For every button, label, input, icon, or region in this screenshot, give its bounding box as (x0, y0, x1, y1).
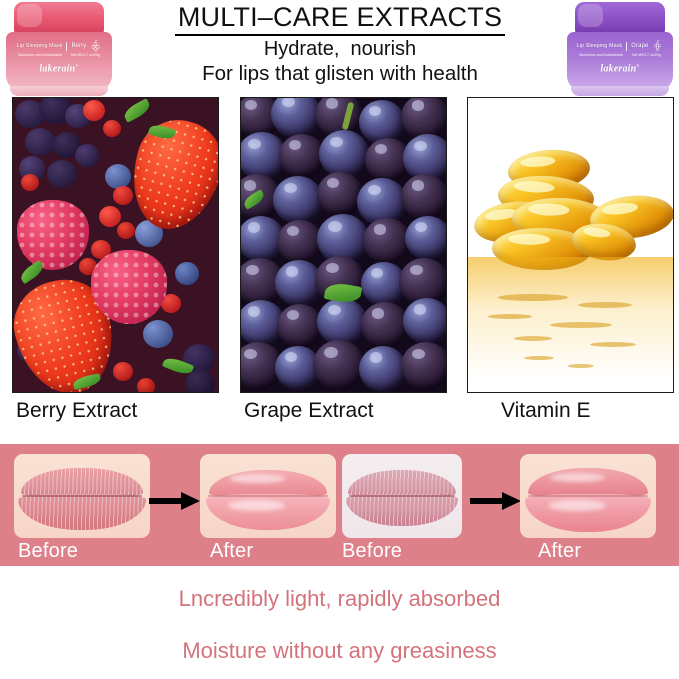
jar-product-name: Lip Sleeping Mask (17, 43, 63, 49)
jar-claim: Moisturize and Antioxidants (18, 53, 62, 57)
grape-icon (652, 40, 663, 52)
jar-product-name: Lip Sleeping Mask (577, 43, 623, 49)
subtitle-line-2: For lips that glisten with health (150, 62, 530, 86)
berry-icon (90, 40, 101, 52)
right-arrow-icon (149, 492, 203, 510)
title-underline (175, 34, 505, 36)
jar-lid (14, 2, 104, 35)
jar-net-weight: Net Wt.0.7 oz/20g (632, 53, 661, 57)
ingredient-caption-grape: Grape Extract (240, 399, 447, 423)
tagline-2: Moisture without any greasiness (0, 638, 679, 664)
product-jar-grape: Lip Sleeping Mask Grape Moisturize and A… (567, 2, 673, 96)
before-after-band: Before After Before After (0, 444, 679, 566)
tagline-1: Lncredibly light, rapidly absorbed (0, 586, 679, 612)
ingredient-cell-grape: Grape Extract (240, 97, 447, 423)
lips-after-image-1 (200, 454, 336, 538)
jar-net-weight: Net Wt.0.7 oz/20g (71, 53, 100, 57)
header: Lip Sleeping Mask Berry Moisturize and A… (0, 0, 679, 97)
lips-before-image-1 (14, 454, 150, 538)
jar-claim: Moisturize and Antioxidants (579, 53, 623, 57)
vitamin-e-photo-frame (467, 97, 674, 393)
berry-photo-frame (12, 97, 219, 393)
vitamin-e-capsules-photo (468, 98, 673, 392)
grape-photo-frame (240, 97, 447, 393)
ingredient-caption-vitamin-e: Vitamin E (467, 399, 674, 423)
after-label: After (538, 540, 581, 563)
label-divider (626, 42, 627, 51)
tagline-block: Lncredibly light, rapidly absorbed Moist… (0, 572, 679, 679)
subtitle-line-1: Hydrate, nourish (150, 38, 530, 62)
jar-brand: lakerain® (6, 63, 112, 74)
jar-label: Lip Sleeping Mask Grape Moisturize and A… (567, 36, 673, 88)
after-label: After (210, 540, 253, 563)
product-jar-berry: Lip Sleeping Mask Berry Moisturize and A… (6, 2, 112, 96)
lips-before-image-2 (342, 454, 462, 538)
jar-flavor: Grape (631, 43, 648, 49)
before-label: Before (342, 540, 402, 563)
jar-lid (575, 2, 665, 35)
lips-after-image-2 (520, 454, 656, 538)
ingredient-photo-row: Berry Extract (0, 97, 679, 437)
right-arrow-icon (470, 492, 524, 510)
before-label: Before (18, 540, 78, 563)
title-block: MULTI–CARE EXTRACTS Hydrate, nourish For… (150, 2, 530, 86)
jar-flavor: Berry (71, 43, 86, 49)
label-divider (66, 42, 67, 51)
page-title: MULTI–CARE EXTRACTS (150, 2, 530, 33)
mixed-berries-photo (13, 98, 218, 392)
dark-grapes-photo (241, 98, 446, 392)
ingredient-cell-berry: Berry Extract (12, 97, 219, 423)
ingredient-caption-berry: Berry Extract (12, 399, 219, 423)
jar-brand: lakerain® (567, 63, 673, 74)
jar-label: Lip Sleeping Mask Berry Moisturize and A… (6, 36, 112, 88)
ingredient-cell-vitamin-e: Vitamin E (467, 97, 674, 423)
